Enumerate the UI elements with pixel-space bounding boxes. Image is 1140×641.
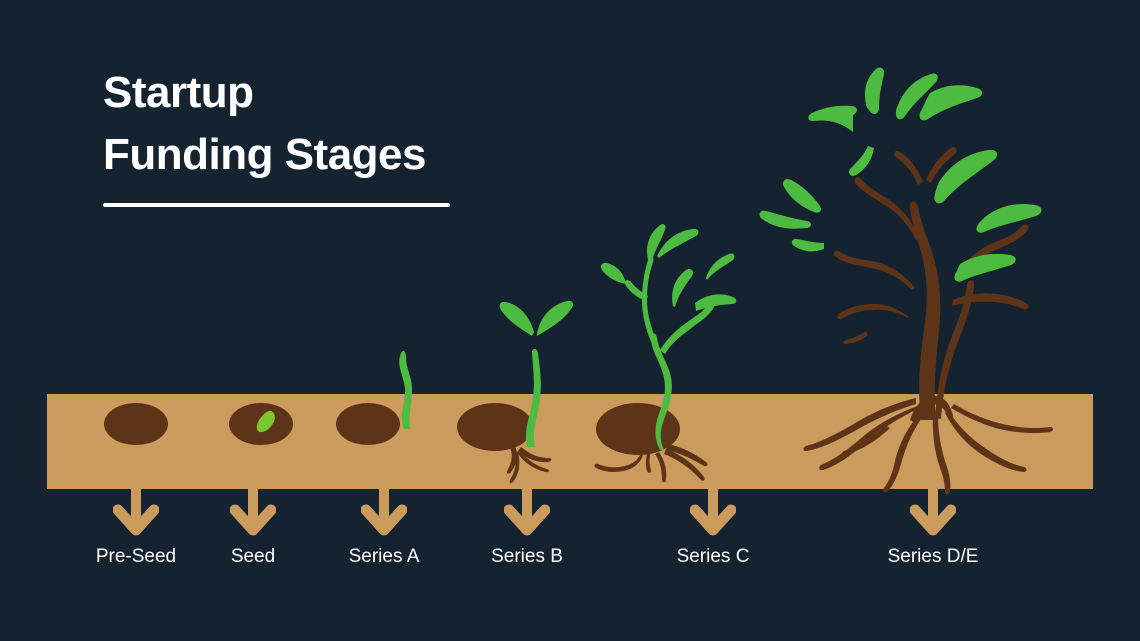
arrow-down-seed — [230, 489, 276, 539]
stage-label-series-a: Series A — [349, 546, 420, 568]
arrow-down-pre-seed — [113, 489, 159, 539]
stage-label-series-d-e: Series D/E — [888, 546, 979, 568]
stage-label-pre-seed: Pre-Seed — [96, 546, 176, 568]
title-block: Startup Funding Stages — [103, 62, 703, 207]
tree-leaves — [759, 67, 1041, 281]
title-underline-rule — [103, 203, 450, 207]
page-title-line-1: Startup — [103, 62, 703, 124]
arrow-down-series-a — [361, 489, 407, 539]
page-title-line-2: Funding Stages — [103, 124, 703, 186]
soil-band — [47, 394, 1093, 489]
stage-label-series-c: Series C — [677, 546, 750, 568]
arrow-down-series-d-e — [910, 489, 956, 539]
stage-label-seed: Seed — [231, 546, 275, 568]
startup-funding-stages-infographic: Startup Funding Stages — [0, 0, 1140, 641]
stage-label-series-b: Series B — [491, 546, 563, 568]
arrow-down-series-c — [690, 489, 736, 539]
arrow-down-series-b — [504, 489, 550, 539]
tree-branches — [834, 147, 1029, 344]
